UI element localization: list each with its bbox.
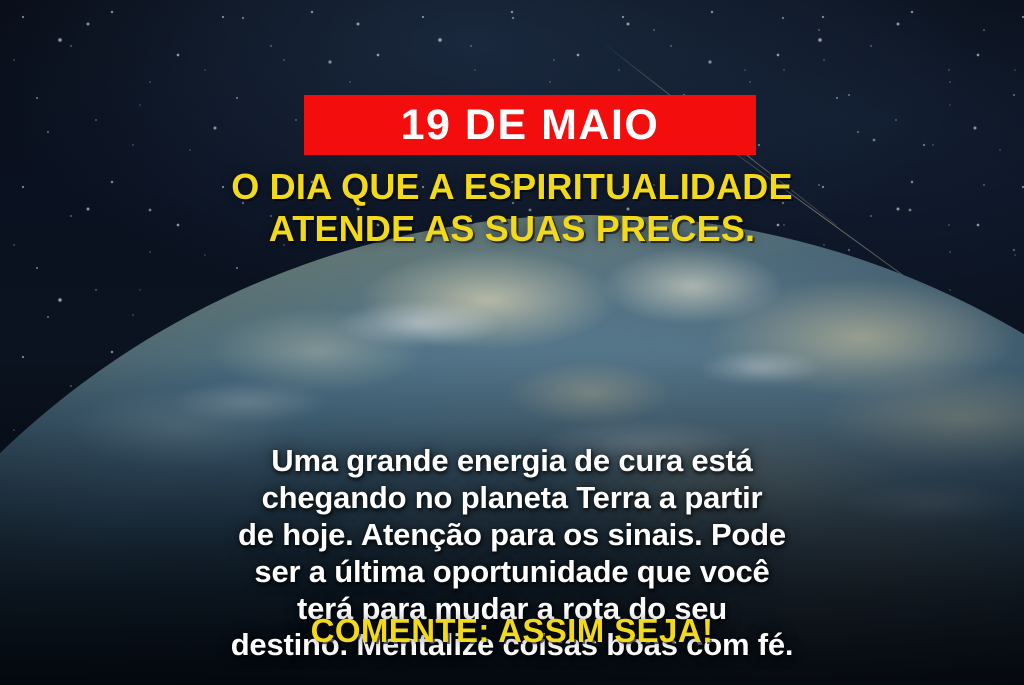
headline-line-2: ATENDE AS SUAS PRECES. [0, 208, 1024, 250]
date-banner: 19 DE MAIO [304, 95, 756, 155]
headline: O DIA QUE A ESPIRITUALIDADE ATENDE AS SU… [0, 166, 1024, 250]
body-line-1: Uma grande energia de cura está [0, 443, 1024, 480]
body-line-3: de hoje. Atenção para os sinais. Pode [0, 517, 1024, 554]
headline-line-1: O DIA QUE A ESPIRITUALIDADE [0, 166, 1024, 208]
body-line-2: chegando no planeta Terra a partir [0, 480, 1024, 517]
call-to-action-text: COMENTE: ASSIM SEJA! [0, 614, 1024, 647]
poster-canvas: 19 DE MAIO O DIA QUE A ESPIRITUALIDADE A… [0, 0, 1024, 685]
date-banner-label: 19 DE MAIO [401, 104, 660, 147]
poster-content: 19 DE MAIO O DIA QUE A ESPIRITUALIDADE A… [0, 0, 1024, 685]
body-line-4: ser a última oportunidade que você [0, 554, 1024, 591]
